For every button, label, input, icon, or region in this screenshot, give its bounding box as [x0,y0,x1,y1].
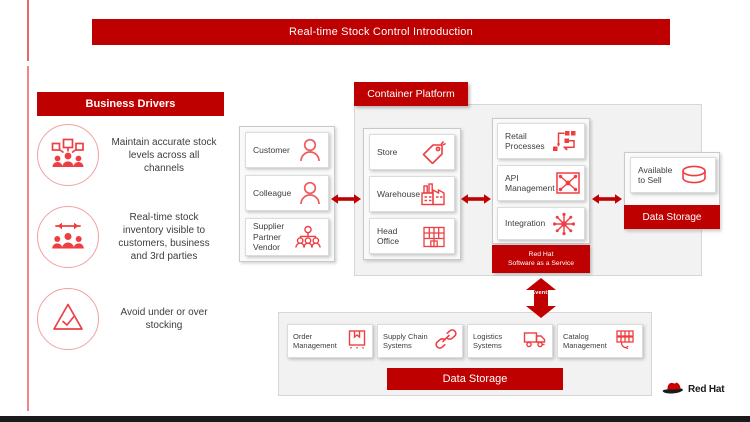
backend-cell-catalog-management[interactable]: Catalog Management [557,324,643,358]
channel-cell-warehouse[interactable]: Warehouse [369,176,455,212]
chain-link-icon [435,329,457,354]
warning-triangle-check-icon [52,302,84,337]
channel-label: Head Office [377,226,399,247]
price-tag-icon [421,140,447,164]
service-cell-api-management[interactable]: API Management [497,165,585,201]
catalog-icon [615,329,637,354]
business-drivers-header: Business Drivers [37,92,224,116]
data-storage-band-right: Data Storage [624,205,720,229]
channel-cell-head-office[interactable]: Head Office [369,218,455,254]
red-hat-logo: Red Hat [662,380,724,399]
red-hat-wordmark: Red Hat [688,384,724,395]
events-arrow-label: Events [516,290,566,296]
arrow-actors-to-channels [331,192,361,211]
service-cell-retail-processes[interactable]: Retail Processes [497,123,585,159]
slide-title-banner: Real-time Stock Control Introduction [92,19,670,45]
database-cylinder-icon [680,163,708,187]
redhat-saas-band: Red Hat Software as a Service [492,245,590,273]
storage-cell-label: Available to Sell [638,165,672,186]
arrow-services-to-storage [592,192,622,211]
driver-icon-circle [37,124,99,186]
channel-label: Store [377,147,397,158]
arrow-channels-to-services [461,192,491,211]
backend-cell-order-management[interactable]: Order Management [287,324,373,358]
service-label: API Management [505,173,555,194]
arrow-events-vertical [516,278,566,323]
container-platform-label: Container Platform [367,88,455,100]
red-hat-fedora-icon [662,380,684,399]
channel-cell-store[interactable]: Store [369,134,455,170]
data-storage-band-label: Data Storage [643,212,702,223]
integration-hub-icon [551,212,577,236]
factory-icon [420,182,448,206]
actor-cell-colleague[interactable]: Colleague [245,175,329,211]
backend-label: Logistics Systems [473,332,502,351]
service-label: Retail Processes [505,131,545,152]
driver-text: Real-time stock inventory visible to cus… [109,211,219,263]
data-storage-band-bottom: Data Storage [387,368,563,390]
business-driver-item: Maintain accurate stock levels across al… [37,124,219,186]
saas-band-line1: Red Hat [529,250,554,259]
storage-cell-available-to-sell[interactable]: Available to Sell [630,157,716,193]
backend-cell-supply-chain[interactable]: Supply Chain Systems [377,324,463,358]
driver-icon-circle [37,206,99,268]
driver-text: Avoid under or over stocking [109,306,219,332]
people-network-icon [51,138,85,173]
driver-text: Maintain accurate stock levels across al… [109,136,219,175]
channel-label: Warehouse [377,189,420,200]
person-icon [299,181,321,205]
left-accent-line-bottom [27,66,29,411]
service-cell-integration[interactable]: Integration [497,207,585,240]
slide-title: Real-time Stock Control Introduction [289,26,473,38]
realtime-people-icon [51,220,85,255]
container-platform-tab: Container Platform [354,82,468,106]
process-flow-icon [551,129,577,153]
backend-cell-logistics[interactable]: Logistics Systems [467,324,553,358]
business-drivers-header-label: Business Drivers [86,98,176,110]
driver-icon-circle [37,288,99,350]
data-storage-band-bottom-label: Data Storage [443,373,508,385]
office-building-icon [421,224,447,248]
box-package-icon [347,329,367,354]
actor-cell-supplier[interactable]: Supplier Partner Vendor [245,218,329,256]
api-nodes-icon [555,171,581,195]
business-driver-item: Real-time stock inventory visible to cus… [37,206,219,268]
business-driver-item: Avoid under or over stocking [37,288,219,350]
service-label: Integration [505,218,545,229]
actor-label: Customer [253,145,290,156]
saas-band-line2: Software as a Service [508,259,574,268]
actor-cell-customer[interactable]: Customer [245,132,329,168]
left-accent-line-top [27,0,29,61]
slide-canvas: Real-time Stock Control Introduction Bus… [0,0,750,422]
actor-label: Supplier Partner Vendor [253,221,284,253]
people-group-icon [295,225,321,249]
backend-label: Catalog Management [563,332,607,351]
backend-label: Supply Chain Systems [383,332,428,351]
person-icon [299,138,321,162]
delivery-truck-icon [523,329,547,354]
bottom-black-bar [0,416,750,422]
actor-label: Colleague [253,188,291,199]
backend-label: Order Management [293,332,337,351]
